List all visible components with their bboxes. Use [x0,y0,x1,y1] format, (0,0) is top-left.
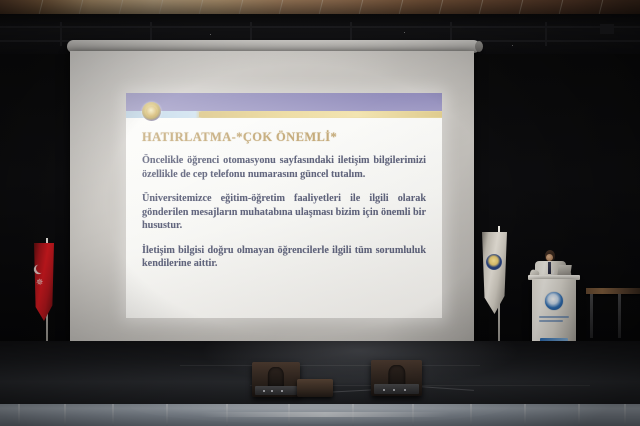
presenter-tie [548,262,551,274]
slide-paragraph-3: İletişim bilgisi doğru olmayan öğrencile… [142,244,426,271]
turkish-flag-icon: ✵ [30,238,64,356]
slide-title: HATIRLATMA-*ÇOK ÖNEMLİ* [142,130,426,145]
university-logo-icon [545,292,563,310]
university-emblem-icon [486,254,502,270]
stage-monitor-right [371,360,422,396]
podium-text-line-1 [539,316,569,318]
slide-paragraph-2: Üniversitemizce eğitim-öğretim faaliyetl… [142,192,426,233]
table-leg [618,294,621,338]
table-leg [590,294,593,338]
slide-paragraph-1: Öncelikle öğrenci otomasyonu sayfasındak… [142,154,426,181]
stage-side-table [586,288,640,346]
projected-slide: HATIRLATMA-*ÇOK ÖNEMLİ* Öncelikle öğrenc… [126,93,442,318]
stage-monitor-left [252,362,300,397]
auditorium-stage-photo: HATIRLATMA-*ÇOK ÖNEMLİ* Öncelikle öğrenc… [0,0,640,426]
university-flag-icon [478,226,514,350]
presenter-face [546,254,553,261]
star-icon: ✵ [35,277,44,287]
table-top [586,288,640,294]
slide-body: HATIRLATMA-*ÇOK ÖNEMLİ* Öncelikle öğrenc… [126,118,442,271]
projection-screen: HATIRLATMA-*ÇOK ÖNEMLİ* Öncelikle öğrenc… [67,40,480,357]
stage-front-drape [0,404,640,426]
stage-monitor-center [297,379,333,397]
podium-text-line-2 [539,320,563,322]
flag-cloth [482,232,507,314]
screen-surface: HATIRLATMA-*ÇOK ÖNEMLİ* Öncelikle öğrenc… [70,51,474,351]
slide-header-band [126,93,442,118]
